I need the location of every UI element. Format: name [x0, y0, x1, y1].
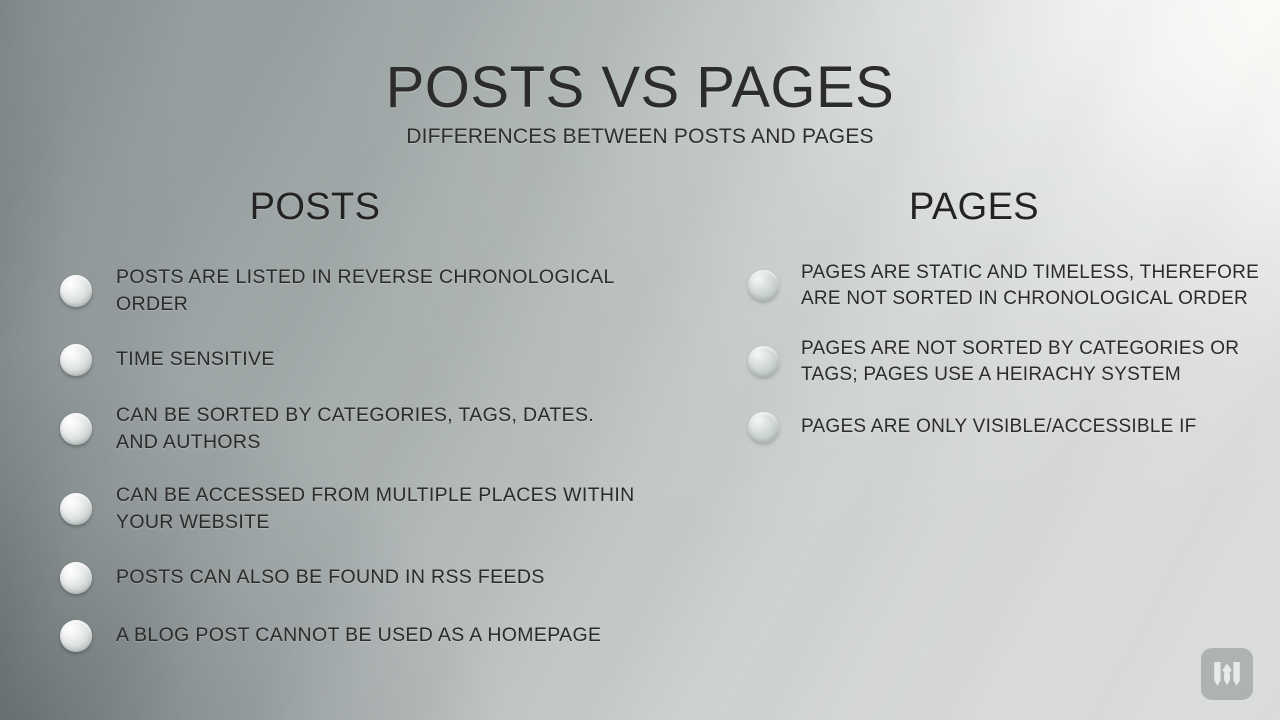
slide-canvas: POSTS VS PAGES DIFFERENCES BETWEEN POSTS… [0, 0, 1280, 720]
bullet-sphere-icon [60, 413, 92, 445]
list-item: POSTS CAN ALSO BE FOUND IN RSS FEEDS [60, 562, 640, 594]
bullet-text: PAGES ARE NOT SORTED BY CATEGORIES OR TA… [801, 336, 1268, 388]
bullet-text: A BLOG POST CANNOT BE USED AS A HOMEPAGE [116, 622, 601, 649]
logo-badge [1201, 648, 1253, 700]
bullet-list-pages: PAGES ARE STATIC AND TIMELESS, THEREFORE… [748, 260, 1268, 443]
bullet-sphere-icon [60, 344, 92, 376]
column-heading-pages: PAGES [748, 186, 1200, 230]
page-subtitle: DIFFERENCES BETWEEN POSTS AND PAGES [0, 125, 1280, 149]
bullet-sphere-icon [748, 412, 779, 443]
bullet-sphere-icon [60, 562, 92, 594]
bullet-text: PAGES ARE ONLY VISIBLE/ACCESSIBLE IF [801, 414, 1197, 440]
page-title: POSTS VS PAGES [0, 58, 1280, 119]
bullet-sphere-icon [60, 493, 92, 525]
bullet-text: CAN BE ACCESSED FROM MULTIPLE PLACES WIT… [116, 482, 640, 536]
column-posts: POSTS POSTS ARE LISTED IN REVERSE CHRONO… [60, 186, 640, 678]
bullet-text: TIME SENSITIVE [116, 346, 275, 373]
column-pages: PAGES PAGES ARE STATIC AND TIMELESS, THE… [748, 186, 1268, 467]
list-item: PAGES ARE ONLY VISIBLE/ACCESSIBLE IF [748, 412, 1268, 443]
bullet-text: CAN BE SORTED BY CATEGORIES, TAGS, DATES… [116, 402, 640, 456]
bullet-sphere-icon [748, 346, 779, 377]
bullet-text: POSTS CAN ALSO BE FOUND IN RSS FEEDS [116, 564, 545, 591]
list-item: CAN BE SORTED BY CATEGORIES, TAGS, DATES… [60, 402, 640, 456]
list-item: PAGES ARE NOT SORTED BY CATEGORIES OR TA… [748, 336, 1268, 388]
column-heading-posts: POSTS [60, 186, 570, 230]
crown-monogram-icon [1211, 659, 1243, 689]
list-item: A BLOG POST CANNOT BE USED AS A HOMEPAGE [60, 620, 640, 652]
list-item: CAN BE ACCESSED FROM MULTIPLE PLACES WIT… [60, 482, 640, 536]
list-item: PAGES ARE STATIC AND TIMELESS, THEREFORE… [748, 260, 1268, 312]
bullet-sphere-icon [60, 275, 92, 307]
bullet-list-posts: POSTS ARE LISTED IN REVERSE CHRONOLOGICA… [60, 264, 640, 652]
list-item: TIME SENSITIVE [60, 344, 640, 376]
bullet-sphere-icon [60, 620, 92, 652]
bullet-text: POSTS ARE LISTED IN REVERSE CHRONOLOGICA… [116, 264, 640, 318]
bullet-text: PAGES ARE STATIC AND TIMELESS, THEREFORE… [801, 260, 1268, 312]
bullet-sphere-icon [748, 270, 779, 301]
list-item: POSTS ARE LISTED IN REVERSE CHRONOLOGICA… [60, 264, 640, 318]
slide-header: POSTS VS PAGES DIFFERENCES BETWEEN POSTS… [0, 58, 1280, 149]
